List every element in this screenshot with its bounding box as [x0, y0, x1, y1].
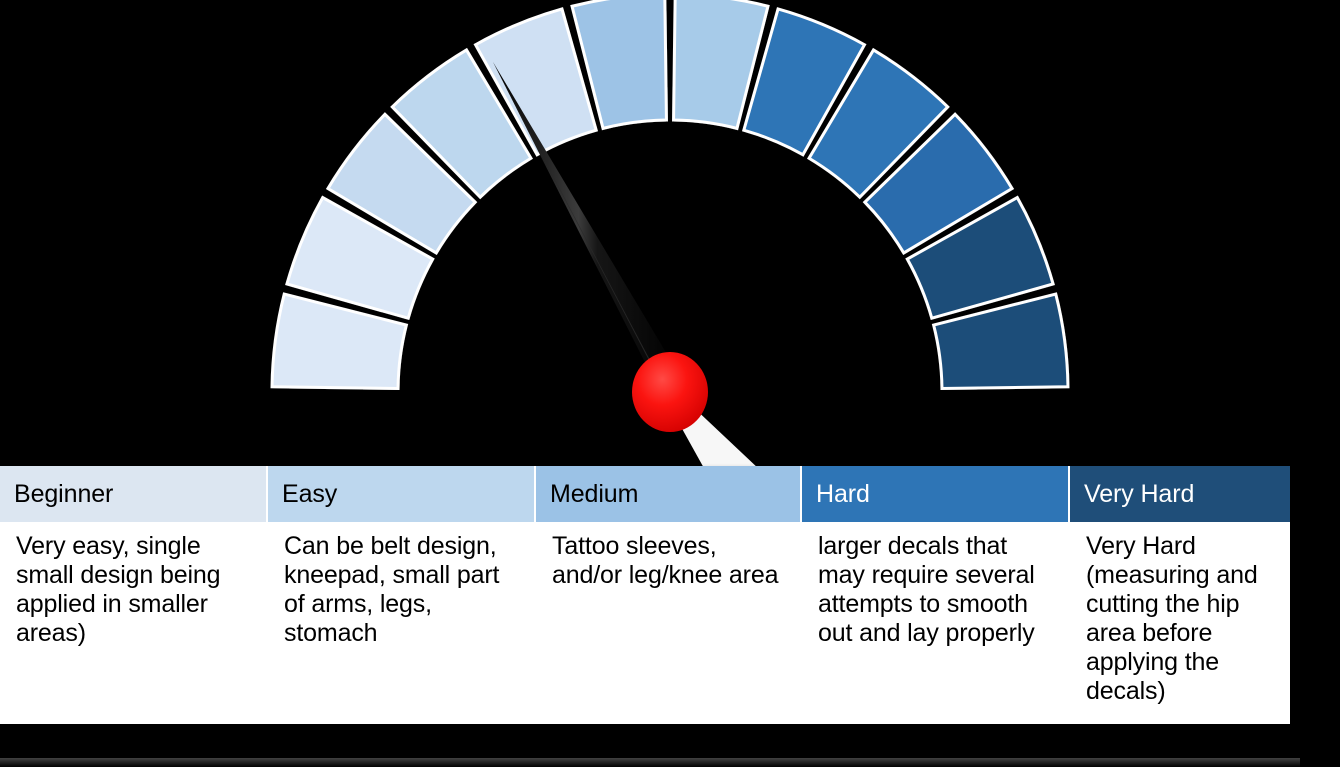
- cell-easy-description: Can be belt design, kneepad, small part …: [268, 522, 536, 724]
- gauge-segments: [272, 0, 1068, 388]
- column-header-easy: Easy: [268, 466, 536, 522]
- cell-medium-description: Tattoo sleeves, and/or leg/knee area: [536, 522, 802, 724]
- cell-text: Can be belt design, kneepad, small part …: [284, 532, 518, 648]
- gauge-difficulty-slide: Beginner Easy Medium Hard Very Hard Very…: [0, 0, 1340, 767]
- gauge-svg: [0, 0, 1340, 470]
- cell-beginner-description: Very easy, single small design being app…: [0, 522, 268, 724]
- cell-very-hard-description: Very Hard (measuring and cutting the hip…: [1070, 522, 1290, 724]
- column-header-very-hard: Very Hard: [1070, 466, 1290, 522]
- cell-text: Tattoo sleeves, and/or leg/knee area: [552, 532, 784, 590]
- cell-text: Very Hard (measuring and cutting the hip…: [1086, 532, 1274, 706]
- gauge-chart: [0, 0, 1340, 470]
- cell-text: larger decals that may require several a…: [818, 532, 1052, 648]
- column-header-hard: Hard: [802, 466, 1070, 522]
- difficulty-table-wrap: Beginner Easy Medium Hard Very Hard Very…: [0, 466, 1292, 766]
- difficulty-table: Beginner Easy Medium Hard Very Hard Very…: [0, 466, 1290, 724]
- table-header-row: Beginner Easy Medium Hard Very Hard: [0, 466, 1290, 522]
- cell-text: Very easy, single small design being app…: [16, 532, 250, 648]
- table-row: Very easy, single small design being app…: [0, 522, 1290, 724]
- gauge-hub: [632, 352, 708, 432]
- column-header-medium: Medium: [536, 466, 802, 522]
- column-header-beginner: Beginner: [0, 466, 268, 522]
- cell-hard-description: larger decals that may require several a…: [802, 522, 1070, 724]
- table-drop-shadow: [0, 758, 1300, 767]
